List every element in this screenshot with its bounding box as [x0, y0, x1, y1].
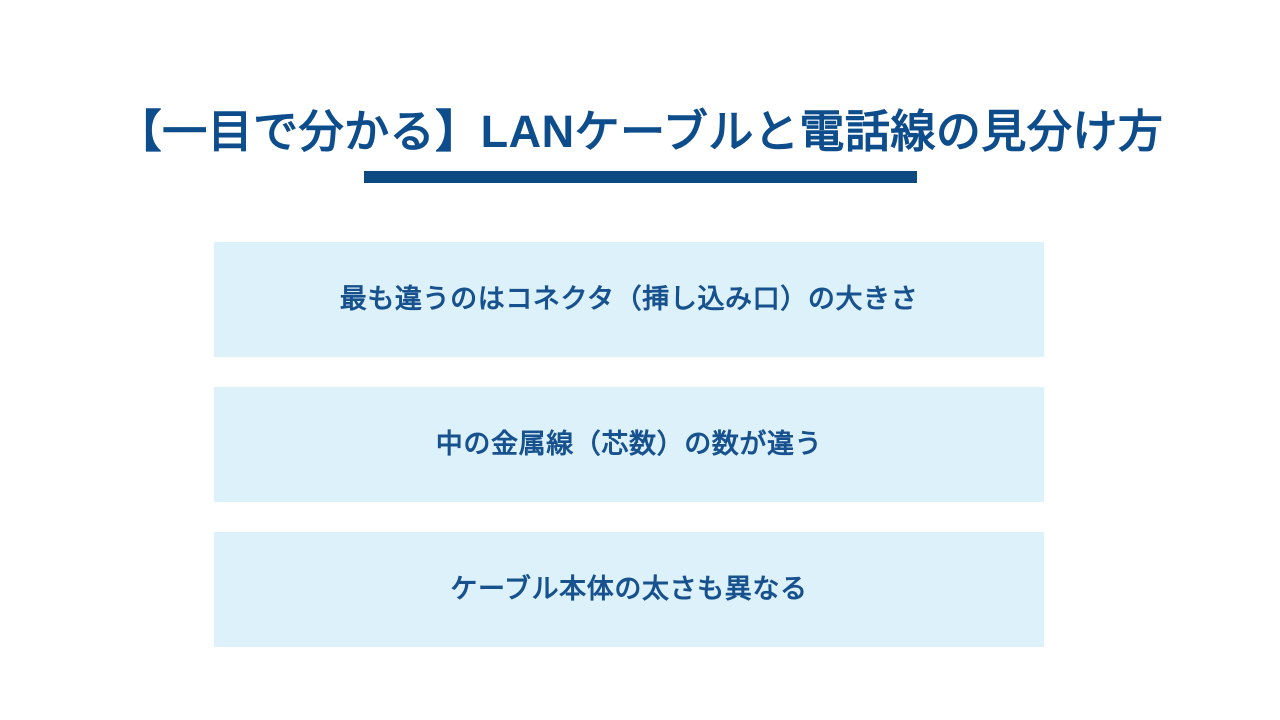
- point-box-3: ケーブル本体の太さも異なる: [214, 532, 1044, 647]
- point-box-2: 中の金属線（芯数）の数が違う: [214, 387, 1044, 502]
- point-text-2: 中の金属線（芯数）の数が違う: [436, 427, 822, 462]
- slide-canvas: 【一目で分かる】LANケーブルと電話線の見分け方 最も違うのはコネクタ（挿し込み…: [0, 0, 1280, 720]
- point-box-1: 最も違うのはコネクタ（挿し込み口）の大きさ: [214, 242, 1044, 357]
- point-list: 最も違うのはコネクタ（挿し込み口）の大きさ 中の金属線（芯数）の数が違う ケーブ…: [214, 242, 1044, 647]
- point-text-3: ケーブル本体の太さも異なる: [450, 572, 807, 607]
- title-underline-rule: [364, 171, 917, 183]
- title-underline-wrapper: [0, 171, 1280, 183]
- point-text-1: 最も違うのはコネクタ（挿し込み口）の大きさ: [340, 282, 919, 317]
- page-title: 【一目で分かる】LANケーブルと電話線の見分け方: [0, 106, 1280, 158]
